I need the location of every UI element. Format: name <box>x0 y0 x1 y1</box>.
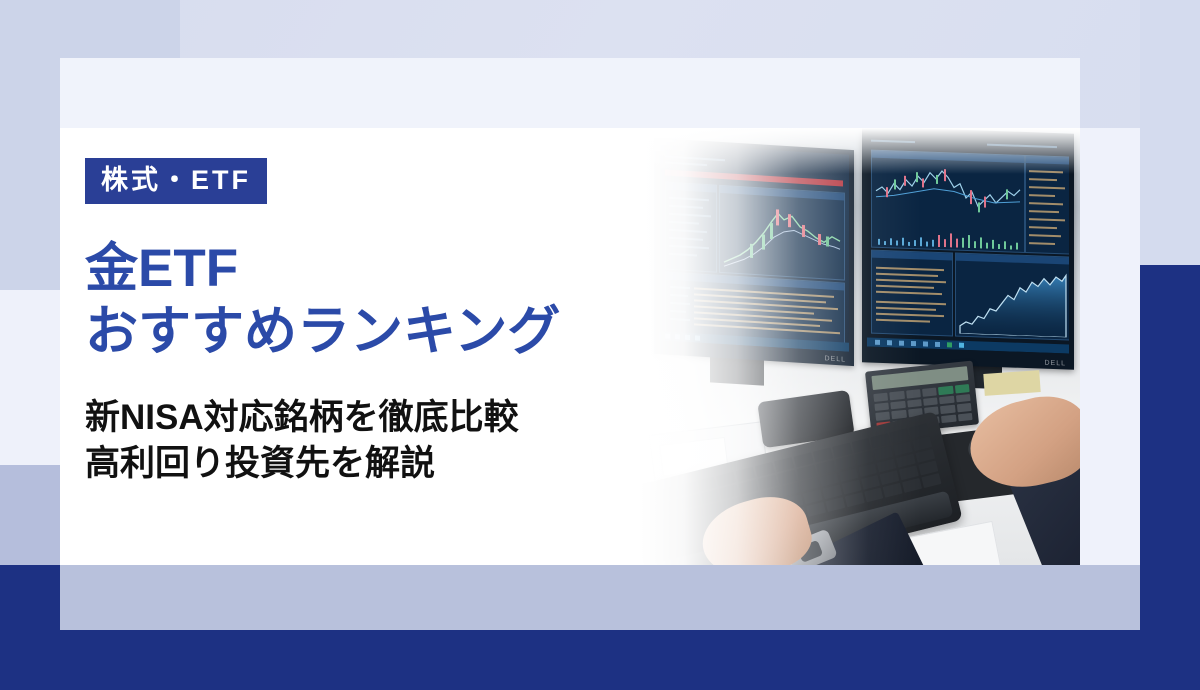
candlestick-sparkline <box>722 196 842 277</box>
taskbar-icon <box>935 342 940 347</box>
taskbar-icon <box>947 342 952 347</box>
news-text-row <box>876 279 946 283</box>
chart-pane-candles <box>719 185 845 281</box>
headline-block: 株式・ETF 金ETF おすすめランキング 新NISA対応銘柄を徹底比較 高利回… <box>85 158 685 486</box>
trading-desk-photo: DELL <box>640 128 1080 565</box>
news-text-row <box>876 285 934 289</box>
calculator-key <box>956 393 971 402</box>
taskbar-icon <box>887 340 892 345</box>
page-subtitle-line-1: 新NISA対応銘柄を徹底比較 <box>85 395 685 441</box>
monitor-right-screen <box>867 131 1069 353</box>
pane-header <box>1026 156 1069 165</box>
calculator-key <box>874 402 889 411</box>
quote-row <box>1029 170 1063 173</box>
area-chart-pane <box>955 253 1069 341</box>
calculator-key <box>890 391 905 400</box>
taskbar-icon <box>959 343 964 348</box>
calculator-key <box>923 397 938 406</box>
background-band-bottom-overlay <box>60 565 1140 630</box>
background-tile-top-right <box>1140 0 1200 265</box>
calculator-key <box>922 387 937 396</box>
taskbar-icon <box>911 341 916 346</box>
news-text-row <box>876 313 944 317</box>
quote-row <box>1029 186 1065 189</box>
calculator-key <box>907 399 922 408</box>
calculator-key <box>906 389 921 398</box>
news-text-row <box>876 267 944 271</box>
news-text-row <box>876 307 936 311</box>
calculator-key <box>957 403 972 412</box>
quote-monitor-pane <box>1025 155 1069 255</box>
monitor-brand-label: DELL <box>1044 360 1066 368</box>
monitor-right: DELL <box>862 128 1074 370</box>
news-text-row <box>876 291 942 295</box>
price-chart-sparkline <box>874 161 1022 234</box>
chart-pane-main <box>871 150 1025 253</box>
calculator-key <box>875 411 890 420</box>
taskbar-icon <box>899 341 904 346</box>
area-chart-sparkline <box>958 264 1068 338</box>
news-text-row <box>876 273 938 277</box>
content-card: DELL <box>60 58 1080 565</box>
calculator-key <box>940 405 955 414</box>
news-text-row <box>876 319 930 323</box>
screen-toolbar-row <box>871 140 915 144</box>
quote-row <box>1029 202 1063 205</box>
calculator-key <box>892 410 907 419</box>
navy-block-right <box>1140 265 1200 690</box>
calculator-key <box>938 386 953 395</box>
quote-row <box>1029 218 1065 221</box>
screen-toolbar-row <box>987 144 1057 148</box>
calculator-key <box>958 412 973 421</box>
page-subtitle: 新NISA対応銘柄を徹底比較 高利回り投資先を解説 <box>85 395 685 486</box>
page-title-line-2: おすすめランキング <box>85 301 685 364</box>
monitor-left-screen <box>659 143 849 352</box>
calculator-key <box>873 393 888 402</box>
page-title: 金ETF おすすめランキング <box>85 238 685 363</box>
monitor-brand-label: DELL <box>824 355 846 363</box>
calculator-key <box>891 400 906 409</box>
taskbar-icon <box>685 335 690 340</box>
quote-row <box>1029 210 1059 213</box>
quote-row <box>1029 178 1057 181</box>
quote-row <box>1029 194 1055 197</box>
news-text-row <box>876 301 946 305</box>
calculator-key <box>939 395 954 404</box>
news-pane-right <box>871 250 953 337</box>
card-top-wash <box>60 58 1080 128</box>
page-subtitle-line-2: 高利回り投資先を解説 <box>85 441 685 487</box>
quote-row <box>1029 226 1057 229</box>
screen-taskbar <box>867 337 1069 353</box>
monitor-left-stand <box>710 356 764 385</box>
taskbar-icon <box>695 335 700 340</box>
quote-row <box>1029 242 1055 245</box>
pane-header <box>872 251 952 261</box>
background-panel-right <box>1080 128 1140 565</box>
pane-header <box>956 254 1069 265</box>
taskbar-icon <box>875 340 880 345</box>
calculator-key <box>941 414 956 423</box>
article-thumbnail-banner: DELL <box>0 0 1200 690</box>
taskbar-icon <box>923 341 928 346</box>
category-badge: 株式・ETF <box>85 158 267 204</box>
quote-row <box>1029 234 1061 237</box>
sticky-note <box>983 370 1040 396</box>
calculator-key <box>955 384 970 393</box>
page-title-line-1: 金ETF <box>85 238 685 301</box>
